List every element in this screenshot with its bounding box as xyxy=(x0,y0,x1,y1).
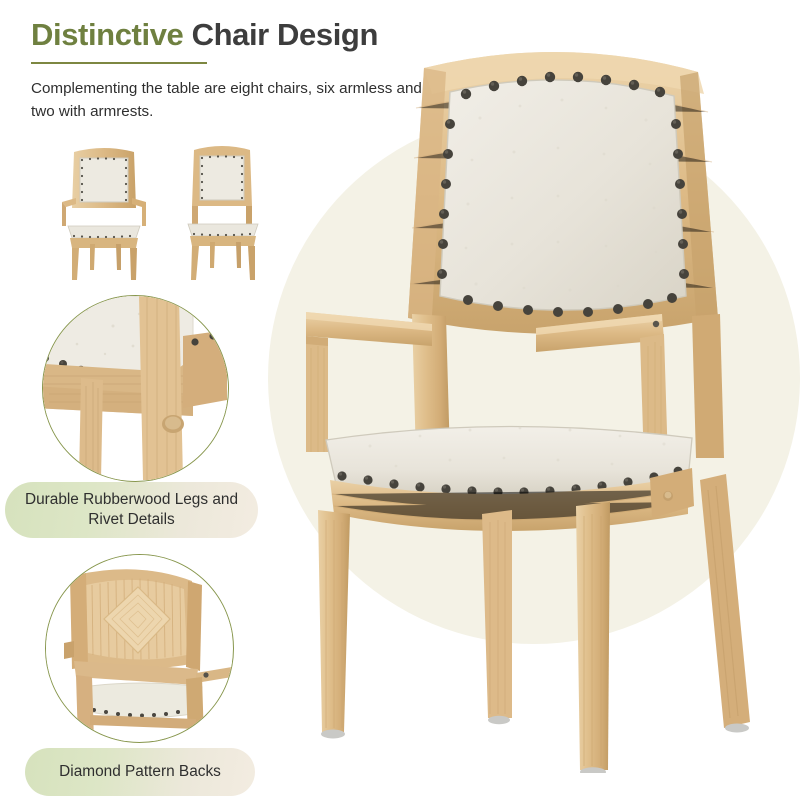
detail-circle-diamond-back xyxy=(45,554,234,743)
armchair-thumbnail xyxy=(56,140,152,282)
caption-diamond-back: Diamond Pattern Backs xyxy=(25,748,255,796)
seat-corner-rivet-detail-icon xyxy=(43,296,227,480)
chair-thumbnails xyxy=(56,140,271,282)
diamond-pattern-chair-back-detail-icon xyxy=(46,555,232,741)
hero-armchair xyxy=(300,28,800,773)
caption-rivets: Durable Rubberwood Legs and Rivet Detail… xyxy=(5,482,258,538)
side-chair-thumbnail xyxy=(174,140,270,282)
title-divider xyxy=(31,62,207,64)
page-title-accent: Distinctive xyxy=(31,17,183,52)
detail-circle-rivets xyxy=(42,295,229,482)
infographic-canvas: Distinctive Chair Design Complementing t… xyxy=(0,0,800,800)
